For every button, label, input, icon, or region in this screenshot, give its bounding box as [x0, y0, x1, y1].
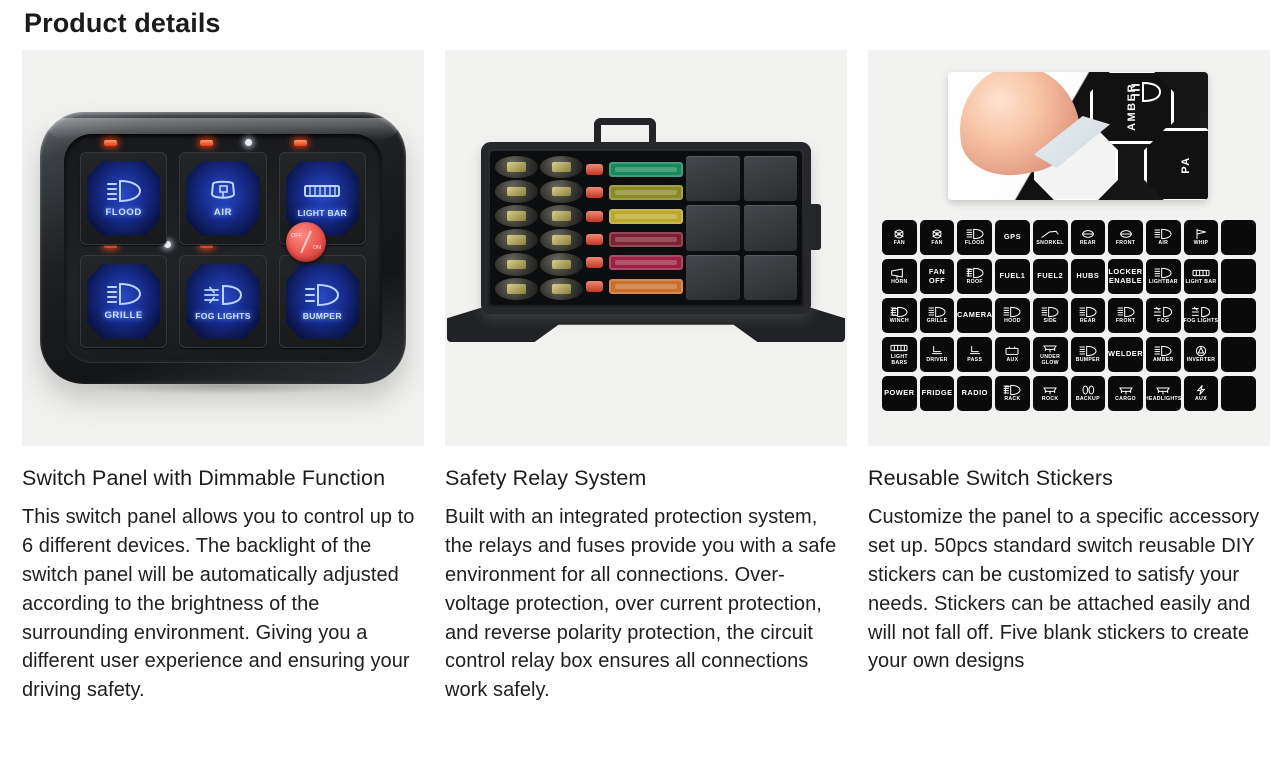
rock-light-icon: [1040, 384, 1060, 396]
front-view-icon: [1116, 228, 1136, 240]
fuse: [609, 232, 683, 247]
column-body: Customize the panel to a specific access…: [868, 503, 1270, 676]
relay-bank: [686, 156, 797, 300]
sticker-label: ROOF: [967, 280, 983, 286]
cargo-light-icon: [1116, 384, 1136, 396]
light-bar-icon: [1191, 267, 1211, 279]
relay-module: [686, 156, 740, 201]
switch-stickers-photo: AMBER PA FANFANFLOODGPSSNORKELREARFRONTA…: [868, 50, 1270, 446]
relay-box-interior: [490, 151, 802, 305]
screw-terminal: [540, 180, 583, 202]
column-heading: Switch Panel with Dimmable Function: [22, 464, 424, 492]
bumper-light-icon: [1078, 345, 1098, 357]
sticker-fan-off[interactable]: FAN OFF: [920, 259, 955, 294]
sticker-fridge[interactable]: FRIDGE: [920, 376, 955, 411]
sticker-rack[interactable]: RACK: [995, 376, 1030, 411]
sticker-welder[interactable]: WELDER: [1108, 337, 1143, 372]
sticker-label: AUX: [1195, 397, 1207, 403]
sticker-label: RADIO: [962, 389, 988, 398]
sticker-label: BACKUP: [1076, 397, 1100, 403]
screw-terminal: [540, 229, 583, 251]
seat-icon: [965, 345, 985, 357]
sticker-label: HOOD: [1004, 319, 1021, 325]
sticker-whip[interactable]: WHIP: [1184, 220, 1219, 255]
sticker-label: POWER: [884, 389, 914, 398]
sticker-label: CAMERA: [957, 311, 992, 320]
relay-module: [686, 255, 740, 300]
sticker-fog[interactable]: FOG: [1146, 298, 1181, 333]
sticker-amber[interactable]: AMBER: [1146, 337, 1181, 372]
sticker-label: FOG: [1157, 319, 1169, 325]
switch-button-flood[interactable]: FLOOD: [80, 152, 167, 245]
knob-off-label: OFF: [291, 233, 302, 239]
terminal-block: [495, 156, 583, 300]
sticker-sheet-grid: FANFANFLOODGPSSNORKELREARFRONTAIRWHIPHOR…: [882, 220, 1256, 411]
sticker-label: LIGHT BARS: [891, 355, 908, 367]
sticker-fuel1[interactable]: FUEL1: [995, 259, 1030, 294]
led-indicator: [200, 140, 213, 146]
relay-box-body: [481, 142, 811, 314]
relay-box-side-tab: [809, 204, 821, 250]
relay-module: [744, 255, 798, 300]
sticker-camera[interactable]: CAMERA: [957, 298, 992, 333]
snorkel-icon: [1040, 228, 1060, 240]
sticker-roof[interactable]: ROOF: [957, 259, 992, 294]
switch-button-label: BUMPER: [303, 311, 342, 321]
sticker-light-bars[interactable]: LIGHT BARS: [882, 337, 917, 372]
backup-light-icon: [1078, 384, 1098, 396]
sticker-light-bar[interactable]: LIGHT BAR: [1184, 259, 1219, 294]
sticker-label: REAR: [1080, 319, 1096, 325]
sticker-rear[interactable]: REAR: [1071, 298, 1106, 333]
red-pin: [586, 257, 603, 268]
bumper-light-icon: [300, 282, 344, 308]
sticker-grille[interactable]: GRILLE: [920, 298, 955, 333]
sticker-label: ROCK: [1042, 397, 1058, 403]
knob-on-label: ON: [313, 245, 321, 251]
sticker-label: GRILLE: [927, 319, 948, 325]
sticker-snorkel[interactable]: SNORKEL: [1033, 220, 1068, 255]
sticker-bumper[interactable]: BUMPER: [1071, 337, 1106, 372]
column-body: This switch panel allows you to control …: [22, 503, 424, 705]
sticker-power[interactable]: POWER: [882, 376, 917, 411]
sticker-label: FAN: [894, 241, 905, 247]
sticker-label: AMBER: [1153, 358, 1174, 364]
page-title: Product details: [24, 8, 221, 39]
sticker-fog-lights[interactable]: FOG LIGHTS: [1184, 298, 1219, 333]
screw-terminal: [495, 205, 538, 227]
headlights-icon: [1153, 384, 1173, 396]
sticker-label: BUMPER: [1076, 358, 1100, 364]
sticker-label: CARGO: [1115, 397, 1136, 403]
screw-terminal: [495, 253, 538, 275]
sticker-locker-enable[interactable]: LOCKER ENABLE: [1108, 259, 1143, 294]
switch-button-label: FLOOD: [106, 207, 142, 218]
sticker-label: INVERTER: [1187, 358, 1216, 364]
fuse-column: [609, 156, 683, 300]
side-light-icon: [1040, 306, 1060, 318]
screw-terminal: [540, 253, 583, 275]
sticker-backup[interactable]: BACKUP: [1071, 376, 1106, 411]
red-pin: [586, 164, 603, 175]
white-led-indicator: [245, 139, 252, 146]
column-heading: Safety Relay System: [445, 464, 847, 492]
fuse: [609, 279, 683, 294]
sticker-label: SIDE: [1043, 319, 1056, 325]
sticker-front[interactable]: FRONT: [1108, 298, 1143, 333]
hood-light-icon: [1002, 306, 1022, 318]
screw-terminal: [495, 180, 538, 202]
sticker-label: LIGHTBAR: [1149, 280, 1178, 286]
switch-button-label: GRILLE: [104, 310, 142, 321]
sticker-peel-photo: AMBER PA: [948, 72, 1208, 200]
bolt-icon: [1191, 384, 1211, 396]
grille-light-icon: [927, 306, 947, 318]
fog-light-icon: [1153, 306, 1173, 318]
led-indicator: [294, 140, 307, 146]
fuse: [609, 209, 683, 224]
fog-light-icon: [201, 282, 245, 308]
roof-light-icon: [965, 267, 985, 279]
sticker-pass[interactable]: PASS: [957, 337, 992, 372]
screw-terminal: [495, 229, 538, 251]
light-bars-icon: [889, 342, 909, 354]
screw-terminal: [540, 156, 583, 178]
rear-view-icon: [1078, 228, 1098, 240]
switch-panel-device: FLOOD AIR: [40, 112, 406, 384]
fuse: [609, 162, 683, 177]
sticker-label: REAR: [1080, 241, 1096, 247]
sticker-hubs[interactable]: HUBS: [1071, 259, 1106, 294]
sticker-label: FLOOD: [965, 241, 985, 247]
panel-drop-shadow: [80, 378, 366, 394]
sticker-rear[interactable]: REAR: [1071, 220, 1106, 255]
light-bar-icon: [300, 179, 344, 205]
red-pin-column: [586, 156, 606, 300]
sticker-label: PASS: [967, 358, 982, 364]
fan-blade-icon: [889, 228, 909, 240]
sticker-label: HORN: [891, 280, 907, 286]
fan-housing-icon: [927, 228, 947, 240]
flood-light-icon: [965, 228, 985, 240]
sticker-fuel2[interactable]: FUEL2: [1033, 259, 1068, 294]
sticker-hood[interactable]: HOOD: [995, 298, 1030, 333]
relay-module: [744, 156, 798, 201]
rear-light-icon: [1078, 306, 1098, 318]
switch-button-bumper[interactable]: BUMPER: [279, 255, 366, 348]
product-details-columns: FLOOD AIR: [0, 50, 1284, 705]
air-compressor-icon: [201, 178, 245, 204]
column-heading: Reusable Switch Stickers: [868, 464, 1270, 492]
light-single-icon: [1153, 267, 1173, 279]
dimmer-knob[interactable]: OFF ON: [286, 222, 326, 262]
rack-light-icon: [1002, 384, 1022, 396]
sticker-hex-label: PA: [1180, 126, 1192, 200]
front-light-icon: [1116, 306, 1136, 318]
relay-box-photo: [445, 50, 847, 446]
sticker-label: LOCKER ENABLE: [1108, 268, 1142, 285]
detail-column-1: FLOOD AIR: [22, 50, 424, 705]
sticker-label: GPS: [1004, 233, 1021, 242]
red-pin: [586, 211, 603, 222]
flood-light-icon: [102, 178, 146, 204]
sticker-fan[interactable]: FAN: [882, 220, 917, 255]
sticker-inverter[interactable]: INVERTER: [1184, 337, 1219, 372]
switch-button-label: AIR: [214, 207, 232, 218]
sticker-label: SNORKEL: [1036, 241, 1063, 247]
sticker-front[interactable]: FRONT: [1108, 220, 1143, 255]
fuse: [609, 255, 683, 270]
whip-flag-icon: [1191, 228, 1211, 240]
sticker-label: WINCH: [890, 319, 909, 325]
sticker-hex-label: AMBER: [1126, 72, 1138, 146]
relay-module: [744, 205, 798, 250]
sticker-under-glow[interactable]: UNDER GLOW: [1033, 337, 1068, 372]
sticker-aux[interactable]: AUX: [995, 337, 1030, 372]
sticker-label: RACK: [1004, 397, 1020, 403]
fog-lights-icon: [1191, 306, 1211, 318]
screw-terminal: [495, 278, 538, 300]
sticker-blank[interactable]: [1221, 337, 1256, 372]
under-glow-icon: [1040, 342, 1060, 354]
sticker-label: HEADLIGHTS: [1146, 397, 1181, 403]
sticker-label: FOG LIGHTS: [1184, 319, 1219, 325]
sticker-gps[interactable]: GPS: [995, 220, 1030, 255]
detail-column-2: Safety Relay System Built with an integr…: [445, 50, 847, 705]
sticker-rock[interactable]: ROCK: [1033, 376, 1068, 411]
switch-button-air[interactable]: AIR: [179, 152, 266, 245]
switch-button-fog-lights[interactable]: FOG LIGHTS: [179, 255, 266, 348]
sticker-label: FRONT: [1116, 241, 1135, 247]
sticker-radio[interactable]: RADIO: [957, 376, 992, 411]
inverter-icon: [1191, 345, 1211, 357]
sticker-blank[interactable]: [1221, 298, 1256, 333]
sticker-cargo[interactable]: CARGO: [1108, 376, 1143, 411]
switch-button-grille[interactable]: GRILLE: [80, 255, 167, 348]
detail-column-3: AMBER PA FANFANFLOODGPSSNORKELREARFRONTA…: [868, 50, 1270, 705]
sticker-label: WELDER: [1108, 350, 1143, 359]
sticker-label: AUX: [1007, 358, 1019, 364]
red-pin: [586, 281, 603, 292]
sticker-label: LIGHT BAR: [1185, 280, 1216, 286]
relay-module: [686, 205, 740, 250]
sticker-fan[interactable]: FAN: [920, 220, 955, 255]
seat-icon: [927, 345, 947, 357]
sticker-label: FAN: [931, 241, 942, 247]
sticker-winch[interactable]: WINCH: [882, 298, 917, 333]
sticker-label: FRIDGE: [922, 389, 953, 398]
sticker-flood[interactable]: FLOOD: [957, 220, 992, 255]
screw-terminal: [540, 205, 583, 227]
sticker-headlights[interactable]: HEADLIGHTS: [1146, 376, 1181, 411]
led-indicator: [104, 140, 117, 146]
sticker-label: FUEL1: [999, 272, 1025, 281]
sticker-blank[interactable]: [1221, 376, 1256, 411]
amber-light-icon: [1153, 345, 1173, 357]
sticker-label: HUBS: [1076, 272, 1099, 281]
sticker-blank[interactable]: [1221, 259, 1256, 294]
sticker-driver[interactable]: DRIVER: [920, 337, 955, 372]
winch-icon: [889, 306, 909, 318]
sticker-aux[interactable]: AUX: [1184, 376, 1219, 411]
screw-terminal: [495, 156, 538, 178]
relay-box-device: [481, 142, 811, 352]
grille-light-icon: [102, 281, 146, 307]
air-compressor-icon: [1153, 228, 1173, 240]
column-body: Built with an integrated protection syst…: [445, 503, 847, 705]
switch-button-label: FOG LIGHTS: [195, 311, 251, 321]
sticker-label: FUEL2: [1037, 272, 1063, 281]
sticker-label: WHIP: [1194, 241, 1209, 247]
screw-terminal: [540, 278, 583, 300]
sticker-side[interactable]: SIDE: [1033, 298, 1068, 333]
sticker-label: AIR: [1158, 241, 1168, 247]
horn-icon: [889, 267, 909, 279]
red-pin: [586, 187, 603, 198]
sticker-label: DRIVER: [926, 358, 947, 364]
sticker-blank[interactable]: [1221, 220, 1256, 255]
sticker-horn[interactable]: HORN: [882, 259, 917, 294]
switch-panel-photo: FLOOD AIR: [22, 50, 424, 446]
sticker-label: FRONT: [1116, 319, 1135, 325]
sticker-air[interactable]: AIR: [1146, 220, 1181, 255]
switch-button-label: LIGHT BAR: [298, 208, 347, 218]
fuse: [609, 185, 683, 200]
battery-icon: [1002, 345, 1022, 357]
red-pin: [586, 234, 603, 245]
sticker-label: FAN OFF: [929, 268, 945, 285]
sticker-lightbar[interactable]: LIGHTBAR: [1146, 259, 1181, 294]
sticker-label: UNDER GLOW: [1040, 355, 1060, 367]
product-details-page: Product details: [0, 0, 1284, 772]
